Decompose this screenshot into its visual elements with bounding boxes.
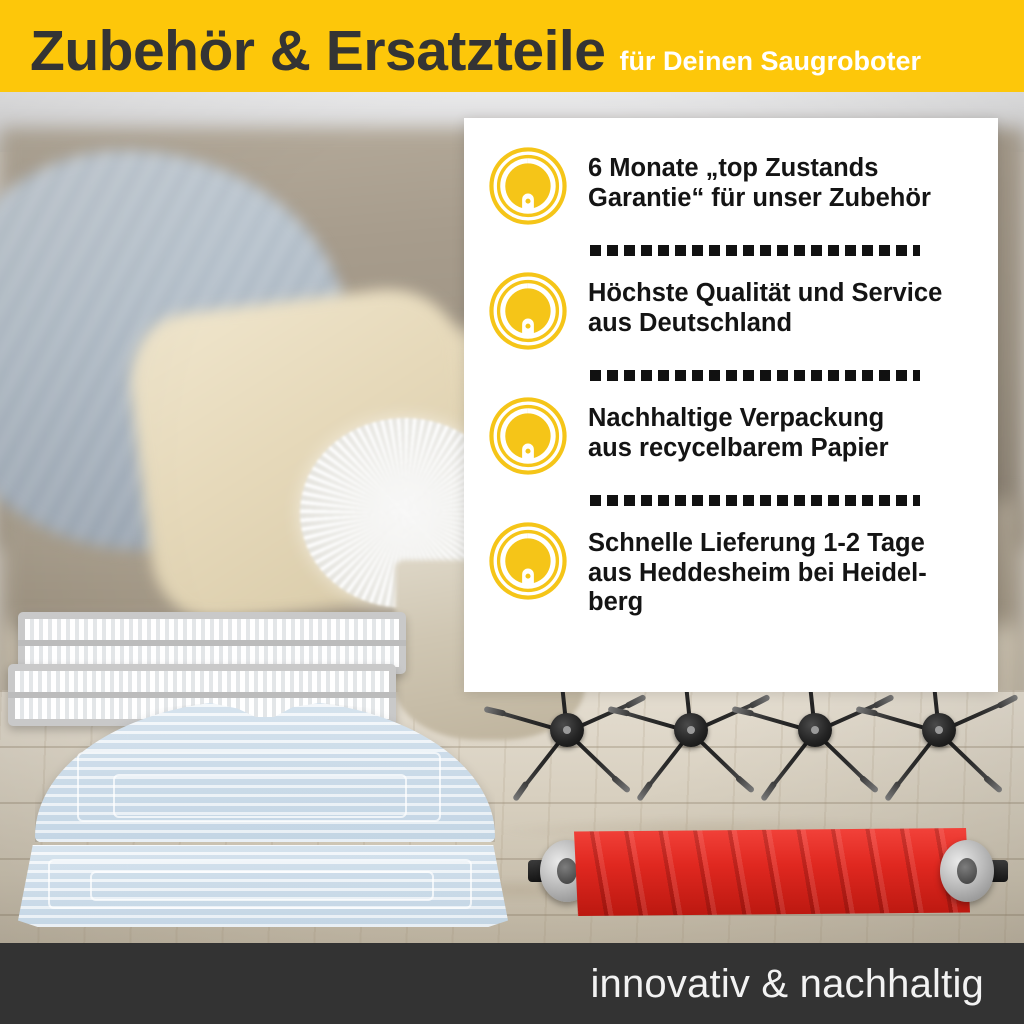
page-subtitle: für Deinen Saugroboter <box>619 48 921 80</box>
side-brush-hub <box>798 713 832 747</box>
side-brush-hub <box>922 713 956 747</box>
mop-stitch-line <box>113 774 407 818</box>
header-bar: Zubehör & Ersatzteile für Deinen Saugrob… <box>0 0 1024 92</box>
footer-slogan: innovativ & nachhaltig <box>590 964 984 1004</box>
feature-text: 6 Monate „top Zustands Garantie“ für uns… <box>588 148 931 213</box>
side-brush-hub <box>674 713 708 747</box>
roller-brush <box>540 822 1000 926</box>
dotted-divider <box>590 245 920 256</box>
robot-vacuum-badge-icon <box>486 269 570 353</box>
feature-item: Schnelle Lieferung 1-2 Tage aus Heddeshe… <box>486 523 976 618</box>
roller-brush-body <box>570 828 970 916</box>
dotted-divider <box>590 495 920 506</box>
robot-vacuum-badge-icon <box>486 519 570 603</box>
roller-end-cap <box>940 840 994 902</box>
feature-item: 6 Monate „top Zustands Garantie“ für uns… <box>486 148 976 228</box>
feature-item: Höchste Qualität und Service aus Deutsch… <box>486 273 976 353</box>
side-brush-hub <box>550 713 584 747</box>
feature-panel: 6 Monate „top Zustands Garantie“ für uns… <box>464 118 998 692</box>
footer-bar: innovativ & nachhaltig <box>0 943 1024 1024</box>
robot-vacuum-badge-icon <box>486 394 570 478</box>
feature-text: Schnelle Lieferung 1-2 Tage aus Heddeshe… <box>588 523 927 618</box>
robot-vacuum-badge-icon <box>486 144 570 228</box>
feature-text: Höchste Qualität und Service aus Deutsch… <box>588 273 942 338</box>
dotted-divider <box>590 370 920 381</box>
mop-stitch-line <box>90 871 434 901</box>
feature-item: Nachhaltige Verpackung aus recycelbarem … <box>486 398 976 478</box>
feature-text: Nachhaltige Verpackung aus recycelbarem … <box>588 398 889 463</box>
product-banner: 6 Monate „top Zustands Garantie“ für uns… <box>0 0 1024 1024</box>
mop-pad <box>18 845 508 927</box>
page-title: Zubehör & Ersatzteile <box>30 23 605 80</box>
